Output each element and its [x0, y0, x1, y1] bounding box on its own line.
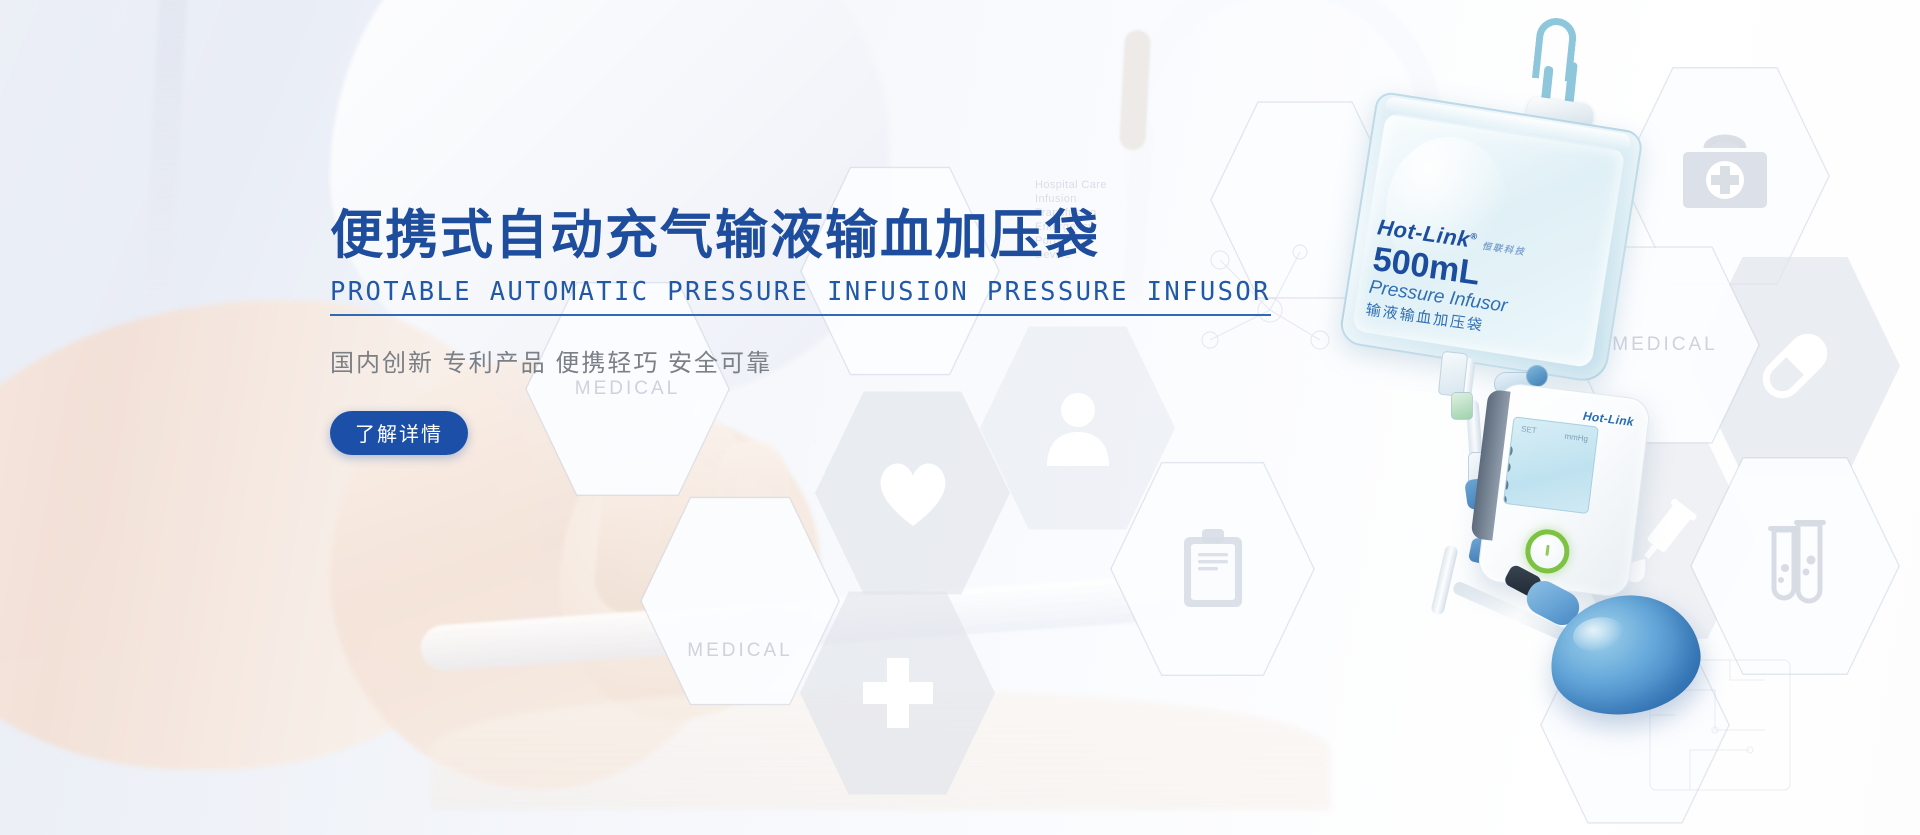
stethoscope-earpiece — [1119, 29, 1151, 150]
hero-copy: 便携式自动充气输液输血加压袋 PROTABLE AUTOMATIC PRESSU… — [330, 205, 1030, 455]
nurse-hand — [560, 420, 820, 720]
instrument-rod — [419, 574, 1180, 673]
hex-label-medical-2: MEDICAL — [687, 640, 792, 662]
finger — [591, 427, 684, 619]
pressure-pump-device: Hot-Link SET mmHg 8068 — [1476, 381, 1651, 598]
hex-clipboard — [1110, 455, 1315, 683]
lcd-label-top: mmHg — [1564, 432, 1588, 444]
learn-more-button[interactable]: 了解详情 — [330, 411, 468, 455]
person-icon — [1041, 388, 1115, 468]
hex-medical-label-2: MEDICAL — [640, 490, 840, 712]
bulb-highlight — [1571, 614, 1627, 655]
medical-cross-icon — [855, 650, 941, 736]
faint-list-item: Infusion — [1035, 192, 1205, 206]
iv-tube — [1430, 544, 1458, 615]
page-title: 便携式自动充气输液输血加压袋 — [330, 205, 1030, 268]
faint-list-item: Hospital Care — [1035, 178, 1205, 192]
registered-mark-icon: ® — [1470, 231, 1478, 242]
coat-edge — [131, 0, 188, 530]
pressure-infusion-bag: Hot-Link®恒联科技 500mL Pressure Infusor 输液输… — [1338, 90, 1645, 384]
finger — [716, 438, 798, 622]
hero-banner: MEDICAL MEDICAL — [0, 0, 1920, 835]
tagline: 国内创新 专利产品 便携轻巧 安全可靠 — [330, 343, 1030, 378]
lcd-label-side: SET — [1521, 424, 1538, 435]
clipboard-icon — [1180, 527, 1246, 611]
page-subtitle: PROTABLE AUTOMATIC PRESSURE INFUSION PRE… — [330, 277, 1271, 316]
pump-lcd-display: SET mmHg 8068 — [1503, 416, 1599, 514]
tube-filter — [1451, 392, 1473, 420]
hex-medical-cross — [800, 585, 995, 801]
heart-icon — [873, 456, 953, 530]
power-button[interactable] — [1523, 527, 1572, 576]
tube-port — [1526, 365, 1548, 387]
product-image: Hot-Link®恒联科技 500mL Pressure Infusor 输液输… — [1320, 0, 1920, 835]
lcd-value: 8068 — [1503, 440, 1517, 510]
bag-brand-cn: 恒联科技 — [1482, 241, 1527, 257]
tray-surface — [430, 690, 1330, 810]
tube-connector — [1438, 351, 1468, 397]
